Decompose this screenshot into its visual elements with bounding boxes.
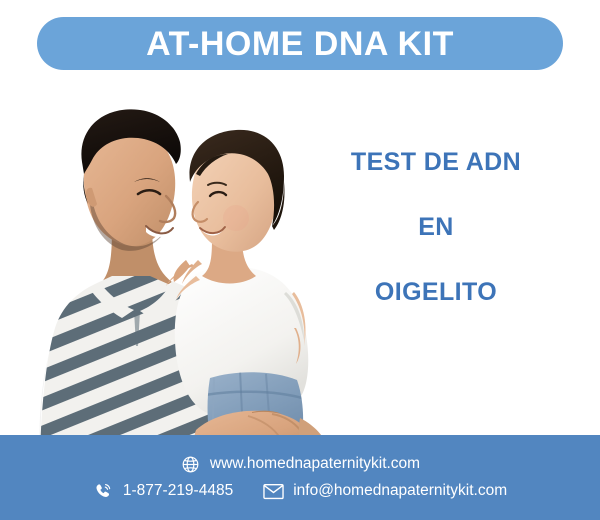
footer-phone-text: 1-877-219-4485: [123, 483, 233, 499]
headline-block: TEST DE ADN EN OIGELITO: [330, 150, 542, 305]
footer-website-row: www.homednapaternitykit.com: [180, 454, 420, 475]
headline-line-2: EN: [330, 215, 542, 240]
father-and-child-photo: [0, 78, 340, 458]
envelope-icon: [263, 481, 284, 502]
footer-contact-bar: www.homednapaternitykit.com 1-877-219-44…: [0, 435, 600, 520]
phone-icon: [93, 481, 114, 502]
footer-website-item[interactable]: www.homednapaternitykit.com: [180, 454, 420, 475]
footer-website-text: www.homednapaternitykit.com: [210, 456, 420, 472]
header-title: AT-HOME DNA KIT: [146, 27, 454, 61]
headline-line-1: TEST DE ADN: [330, 150, 542, 175]
footer-phone-email-row: 1-877-219-4485 info@homednapaternitykit.…: [93, 481, 507, 502]
headline-line-3: OIGELITO: [330, 280, 542, 305]
footer-phone-item[interactable]: 1-877-219-4485: [93, 481, 233, 502]
poster-canvas: AT-HOME DNA KIT: [0, 0, 600, 520]
footer-email-text: info@homednapaternitykit.com: [293, 483, 507, 499]
footer-email-item[interactable]: info@homednapaternitykit.com: [263, 481, 507, 502]
header-pill-banner: AT-HOME DNA KIT: [37, 17, 563, 70]
globe-icon: [180, 454, 201, 475]
